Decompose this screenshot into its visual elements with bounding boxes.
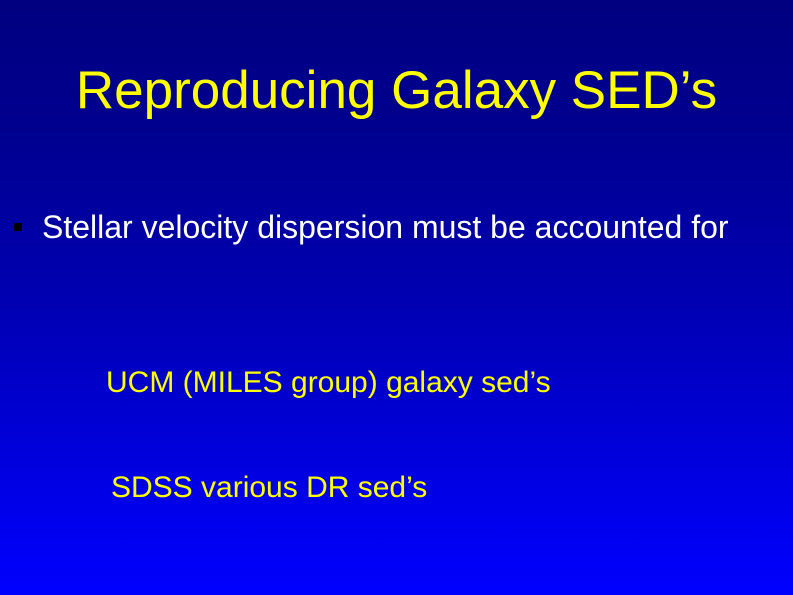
bullet-list-item: Stellar velocity dispersion must be acco…: [14, 206, 779, 248]
presentation-slide: Reproducing Galaxy SED’s Stellar velocit…: [0, 0, 793, 595]
sub-line-sdss: SDSS various DR sed’s: [111, 468, 427, 508]
sub-line-ucm: UCM (MILES group) galaxy sed’s: [106, 363, 551, 403]
bullet-item-label: Stellar velocity dispersion must be acco…: [42, 206, 729, 248]
square-bullet-icon: [14, 223, 22, 231]
page-title: Reproducing Galaxy SED’s: [0, 60, 793, 122]
